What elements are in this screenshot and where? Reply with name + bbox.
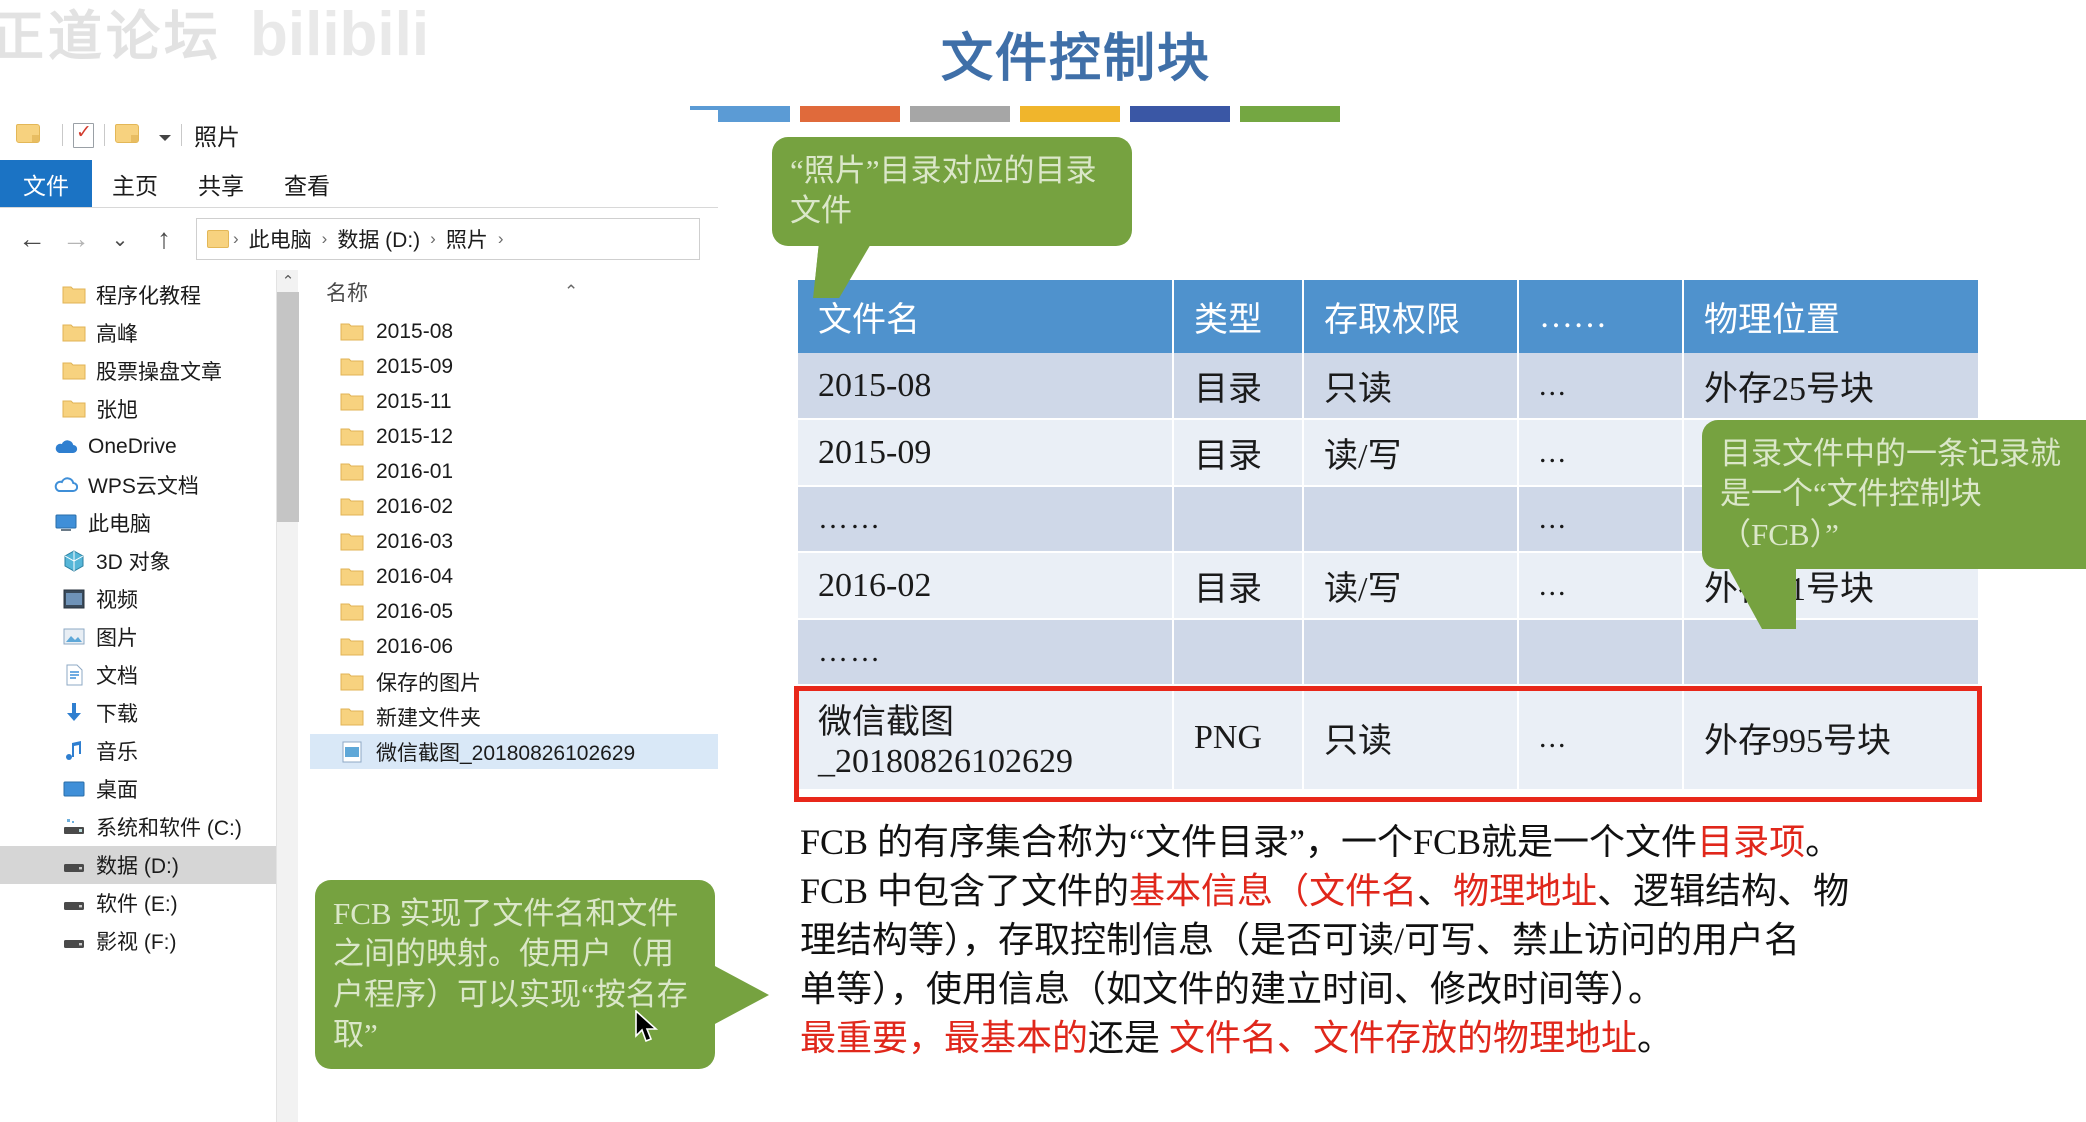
nav-item-label: 此电脑 xyxy=(88,508,151,538)
table-header-cell-1: 类型 xyxy=(1173,280,1303,353)
breadcrumb-separator: › xyxy=(430,229,436,249)
folder-icon xyxy=(340,390,364,414)
table-row: 2015-08目录只读...外存25号块 xyxy=(798,353,1978,419)
downloads-icon xyxy=(62,701,86,725)
table-cell: 读/写 xyxy=(1303,419,1518,486)
table-cell: ... xyxy=(1518,486,1683,552)
folder-icon xyxy=(340,635,364,659)
nav-item-9[interactable]: 图片 xyxy=(0,618,300,656)
table-cell xyxy=(1173,486,1303,552)
nav-item-3[interactable]: 张旭 xyxy=(0,390,300,428)
explanation-paragraph: FCB 的有序集合称为“文件目录”，一个FCB就是一个文件目录项。 FCB 中包… xyxy=(800,818,2086,1063)
nav-item-label: 软件 (E:) xyxy=(96,888,178,918)
list-item[interactable]: 2015-09 xyxy=(310,349,718,384)
3d-objects-icon xyxy=(62,549,86,573)
table-header-cell-2: 存取权限 xyxy=(1303,280,1518,353)
breadcrumb-item-0[interactable]: 此电脑 xyxy=(243,224,318,254)
callout-tail xyxy=(1728,567,1796,629)
para-text: （ xyxy=(1273,871,1309,911)
documents-icon xyxy=(62,663,86,687)
callout-fcb-record: 目录文件中的一条记录就是一个“文件控制块（FCB）” xyxy=(1702,420,2086,569)
watermark: 正道论坛bilibili xyxy=(0,0,429,71)
folder-icon xyxy=(340,670,364,694)
table-header-row: 文件名类型存取权限……物理位置 xyxy=(798,280,1978,353)
list-item-label: 2015-09 xyxy=(376,355,453,379)
table-cell xyxy=(1303,486,1518,552)
list-item[interactable]: 2016-06 xyxy=(310,629,718,664)
column-header-label: 名称 xyxy=(326,277,368,307)
drive-icon xyxy=(62,929,86,953)
folder-icon xyxy=(340,425,364,449)
nav-item-label: 下载 xyxy=(96,698,138,728)
list-item-label: 微信截图_20180826102629 xyxy=(376,737,635,767)
list-item-label: 2016-04 xyxy=(376,565,453,589)
folder-icon xyxy=(340,705,364,729)
nav-item-17[interactable]: 影视 (F:) xyxy=(0,922,300,960)
nav-item-2[interactable]: 股票操盘文章 xyxy=(0,352,300,390)
folder-icon xyxy=(62,359,86,383)
list-item-label: 保存的图片 xyxy=(376,667,481,697)
table-cell xyxy=(1518,619,1683,685)
nav-item-4[interactable]: OneDrive xyxy=(0,428,300,466)
nav-item-5[interactable]: WPS云文档 xyxy=(0,466,300,504)
table-cell: 目录 xyxy=(1173,419,1303,486)
file-list: 2015-082015-092015-112015-122016-012016-… xyxy=(310,314,718,769)
paragraph-line-2: FCB 中包含了文件的基本信息（文件名、物理地址、逻辑结构、物 xyxy=(800,867,2086,916)
nav-item-13[interactable]: 桌面 xyxy=(0,770,300,808)
accent-bar-1 xyxy=(800,106,900,122)
list-item[interactable]: 2016-02 xyxy=(310,489,718,524)
nav-item-label: 高峰 xyxy=(96,318,138,348)
nav-item-label: 图片 xyxy=(96,622,138,652)
folder-icon xyxy=(207,230,229,248)
table-cell: …… xyxy=(798,619,1173,685)
table-header-cell-4: 物理位置 xyxy=(1683,280,1978,353)
forward-button[interactable]: → xyxy=(56,219,96,259)
list-item-label: 2016-05 xyxy=(376,600,453,624)
navigation-pane: 程序化教程高峰股票操盘文章张旭OneDriveWPS云文档此电脑3D 对象视频图… xyxy=(0,270,300,1122)
list-item[interactable]: 2015-11 xyxy=(310,384,718,419)
para-text: FCB 的有序集合称为“文件目录”，一个FCB就是一个文件 xyxy=(800,822,1697,862)
list-item[interactable]: 2015-12 xyxy=(310,419,718,454)
list-item[interactable]: 微信截图_20180826102629 xyxy=(310,734,718,769)
nav-item-14[interactable]: 系统和软件 (C:) xyxy=(0,808,300,846)
folder-icon xyxy=(340,600,364,624)
nav-item-11[interactable]: 下载 xyxy=(0,694,300,732)
list-item-label: 2016-06 xyxy=(376,635,453,659)
explorer-titlebar: 照片 xyxy=(0,110,718,160)
table-cell: 2015-09 xyxy=(798,419,1173,486)
list-item[interactable]: 新建文件夹 xyxy=(310,699,718,734)
nav-item-16[interactable]: 软件 (E:) xyxy=(0,884,300,922)
callout-text: 目录文件中的一条记录就是一个“文件控制块（FCB）” xyxy=(1720,436,2061,552)
table-header-cell-3: …… xyxy=(1518,280,1683,353)
nav-item-6[interactable]: 此电脑 xyxy=(0,504,300,542)
table-cell: 目录 xyxy=(1173,552,1303,619)
table-cell: …… xyxy=(798,486,1173,552)
table-cell: ... xyxy=(1518,552,1683,619)
ribbon-tabs: 文件主页共享查看 xyxy=(0,160,718,208)
nav-item-label: 影视 (F:) xyxy=(96,926,176,956)
back-button[interactable]: ← xyxy=(12,219,52,259)
document-check-icon[interactable] xyxy=(73,123,94,148)
table-row: 微信截图_20180826102629PNG只读...外存995号块 xyxy=(798,685,1978,790)
nav-scroll-thumb[interactable] xyxy=(277,292,299,522)
para-highlight: 最重要，最基本的 xyxy=(800,1018,1088,1058)
accent-color-bars xyxy=(690,106,1340,122)
para-text: 还是 xyxy=(1088,1018,1169,1058)
para-highlight: 文件名 xyxy=(1309,871,1417,911)
paragraph-line-4: 单等），使用信息（如文件的建立时间、修改时间等）。 xyxy=(800,965,2086,1014)
nav-item-8[interactable]: 视频 xyxy=(0,580,300,618)
list-item-label: 2015-11 xyxy=(376,390,452,414)
window-title: 照片 xyxy=(194,118,240,152)
table-cell: 2015-08 xyxy=(798,353,1173,419)
nav-item-label: 文档 xyxy=(96,660,138,690)
table-cell: 只读 xyxy=(1303,685,1518,790)
recent-locations-button[interactable]: ⌄ xyxy=(100,219,140,259)
table-cell xyxy=(1303,619,1518,685)
nav-item-label: WPS云文档 xyxy=(88,470,199,500)
list-item-label: 新建文件夹 xyxy=(376,702,481,732)
nav-item-label: 系统和软件 (C:) xyxy=(96,812,242,842)
sort-ascending-icon: ⌃ xyxy=(564,282,578,302)
table-cell: 外存995号块 xyxy=(1683,685,1978,790)
list-item-label: 2015-08 xyxy=(376,320,453,344)
para-highlight: 物理地址 xyxy=(1453,871,1597,911)
folder-icon xyxy=(340,355,364,379)
nav-item-0[interactable]: 程序化教程 xyxy=(0,276,300,314)
nav-item-7[interactable]: 3D 对象 xyxy=(0,542,300,580)
accent-bar-4 xyxy=(1130,106,1230,122)
callout-tail xyxy=(813,244,871,298)
table-cell: 外存25号块 xyxy=(1683,353,1978,419)
accent-bar-5 xyxy=(1240,106,1340,122)
scroll-up-icon[interactable]: ⌃ xyxy=(277,270,299,292)
nav-item-15[interactable]: 数据 (D:) xyxy=(0,846,278,884)
watermark-brand: bilibili xyxy=(250,0,429,69)
paragraph-line-5: 最重要，最基本的还是 文件名、文件存放的物理地址。 xyxy=(800,1014,2086,1063)
list-item[interactable]: 2016-04 xyxy=(310,559,718,594)
nav-item-1[interactable]: 高峰 xyxy=(0,314,300,352)
nav-item-label: 3D 对象 xyxy=(96,546,171,576)
list-item[interactable]: 2016-01 xyxy=(310,454,718,489)
para-highlight: 基本信息 xyxy=(1129,871,1273,911)
tab-2[interactable]: 共享 xyxy=(178,160,264,207)
music-icon xyxy=(62,739,86,763)
nav-item-label: OneDrive xyxy=(88,435,177,459)
list-item[interactable]: 2015-08 xyxy=(310,314,718,349)
nav-scrollbar[interactable]: ⌃ xyxy=(276,270,298,1122)
list-item[interactable]: 2016-03 xyxy=(310,524,718,559)
breadcrumb-item-2[interactable]: 照片 xyxy=(440,224,494,254)
tab-0[interactable]: 文件 xyxy=(0,160,92,207)
breadcrumb[interactable]: ›此电脑›数据 (D:)›照片› xyxy=(196,218,700,260)
table-cell: 读/写 xyxy=(1303,552,1518,619)
callout-text: “照片”目录对应的目录文件 xyxy=(790,153,1097,228)
nav-item-12[interactable]: 音乐 xyxy=(0,732,300,770)
list-item[interactable]: 2016-05 xyxy=(310,594,718,629)
drive-system-icon xyxy=(62,815,86,839)
accent-bar-3 xyxy=(1020,106,1120,122)
folder-icon xyxy=(340,565,364,589)
paragraph-line-3: 理结构等），存取控制信息（是否可读/可写、禁止访问的用户名 xyxy=(800,916,2086,965)
folder-icon xyxy=(340,460,364,484)
table-cell: 只读 xyxy=(1303,353,1518,419)
table-cell: 目录 xyxy=(1173,353,1303,419)
onedrive-cloud-icon xyxy=(54,435,78,459)
table-cell: ... xyxy=(1518,685,1683,790)
breadcrumb-separator: › xyxy=(322,229,328,249)
nav-item-10[interactable]: 文档 xyxy=(0,656,300,694)
table-cell: 2016-02 xyxy=(798,552,1173,619)
tab-3[interactable]: 查看 xyxy=(264,160,350,207)
table-cell: PNG xyxy=(1173,685,1303,790)
drive-icon xyxy=(62,891,86,915)
divider xyxy=(62,124,63,146)
table-cell: ... xyxy=(1518,419,1683,486)
breadcrumb-separator: › xyxy=(233,229,239,249)
slide-canvas: 正道论坛bilibili 文件控制块 照片 文件主页共享查看 ← → ⌄ ↑ ›… xyxy=(0,0,2086,1122)
folder-icon xyxy=(62,397,86,421)
watermark-text: 正道论坛 xyxy=(0,7,222,67)
up-button[interactable]: ↑ xyxy=(144,219,184,259)
new-folder-icon[interactable] xyxy=(115,124,141,146)
address-bar: ← → ⌄ ↑ ›此电脑›数据 (D:)›照片› xyxy=(0,208,718,270)
nav-item-label: 张旭 xyxy=(96,394,138,424)
callout-directory-file: “照片”目录对应的目录文件 xyxy=(772,137,1132,246)
chevron-down-icon[interactable] xyxy=(159,135,171,141)
videos-icon xyxy=(62,587,86,611)
drive-icon xyxy=(62,853,86,877)
column-header-name[interactable]: 名称 ⌃ xyxy=(310,270,718,314)
divider xyxy=(181,124,182,146)
accent-bar-2 xyxy=(910,106,1010,122)
folder-icon xyxy=(62,321,86,345)
nav-item-label: 视频 xyxy=(96,584,138,614)
list-item[interactable]: 保存的图片 xyxy=(310,664,718,699)
para-text: 、 xyxy=(1417,871,1453,911)
list-item-label: 2016-01 xyxy=(376,460,453,484)
tab-1[interactable]: 主页 xyxy=(92,160,178,207)
table-cell: 微信截图_20180826102629 xyxy=(798,685,1173,790)
page-title: 文件控制块 xyxy=(866,16,1286,91)
this-pc-icon xyxy=(54,511,78,535)
divider xyxy=(104,124,105,146)
nav-item-label: 数据 (D:) xyxy=(96,850,179,880)
wps-cloud-icon xyxy=(54,473,78,497)
nav-item-label: 音乐 xyxy=(96,736,138,766)
para-text: 、逻辑结构、物 xyxy=(1597,871,1849,911)
paragraph-line-1: FCB 的有序集合称为“文件目录”，一个FCB就是一个文件目录项。 xyxy=(800,818,2086,867)
para-text: FCB 中包含了文件的 xyxy=(800,871,1129,911)
breadcrumb-separator: › xyxy=(498,229,504,249)
list-item-label: 2016-03 xyxy=(376,530,453,554)
para-text: 。 xyxy=(1637,1018,1673,1058)
nav-item-label: 桌面 xyxy=(96,774,138,804)
nav-item-label: 程序化教程 xyxy=(96,280,201,310)
folder-icon[interactable] xyxy=(16,124,42,146)
pictures-icon xyxy=(62,625,86,649)
folder-icon xyxy=(62,283,86,307)
para-text: 。 xyxy=(1805,822,1841,862)
table-cell: ... xyxy=(1518,353,1683,419)
para-highlight: 文件名、文件存放的物理地址 xyxy=(1169,1018,1637,1058)
folder-icon xyxy=(340,320,364,344)
folder-icon xyxy=(340,495,364,519)
para-highlight: 目录项 xyxy=(1697,822,1805,862)
callout-tail xyxy=(713,965,769,1025)
nav-item-label: 股票操盘文章 xyxy=(96,356,222,386)
mouse-cursor-icon xyxy=(634,1010,660,1044)
table-row: …… xyxy=(798,619,1978,685)
image-file-icon xyxy=(340,740,364,764)
list-item-label: 2015-12 xyxy=(376,425,453,449)
folder-icon xyxy=(340,530,364,554)
table-cell xyxy=(1683,619,1978,685)
desktop-icon xyxy=(62,777,86,801)
breadcrumb-item-1[interactable]: 数据 (D:) xyxy=(331,224,426,254)
table-cell xyxy=(1173,619,1303,685)
list-item-label: 2016-02 xyxy=(376,495,453,519)
